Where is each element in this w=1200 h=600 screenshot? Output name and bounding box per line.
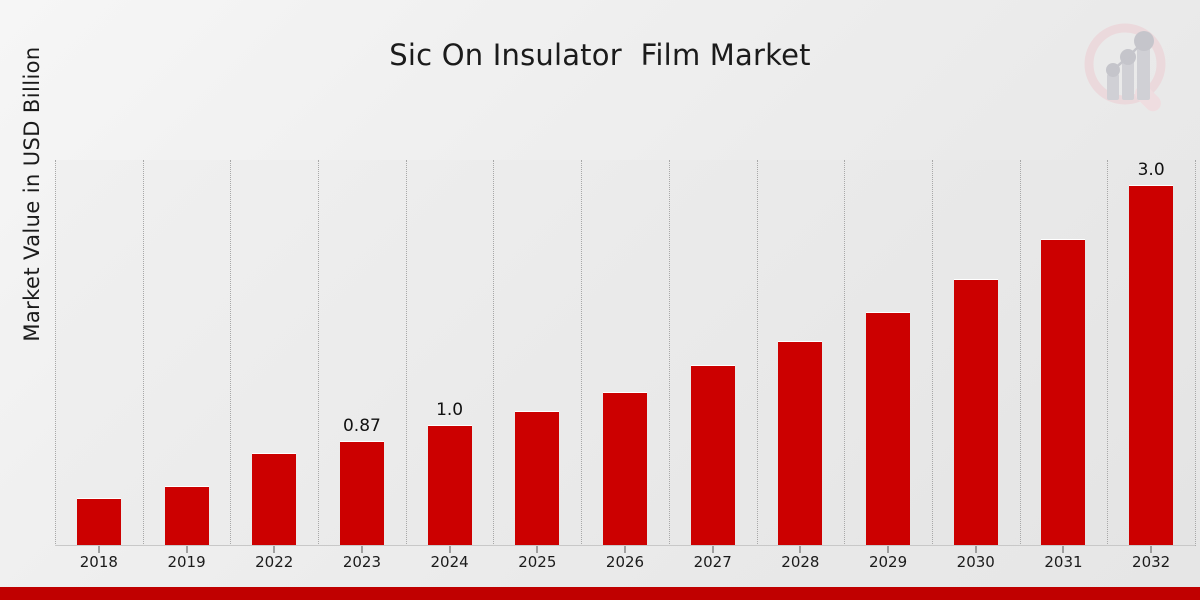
bar-group[interactable] [493, 160, 581, 546]
x-tick-2032 [1151, 546, 1152, 553]
bar-2023[interactable] [340, 441, 384, 546]
x-axis-labels: 2018201920222023202420252026202720282029… [55, 553, 1195, 579]
x-tick-2027 [712, 546, 713, 553]
y-axis-title: Market Value in USD Billion [20, 0, 44, 394]
bar-group[interactable]: 3.0 [1107, 160, 1195, 546]
bar-group[interactable] [757, 160, 845, 546]
bar-group[interactable] [1020, 160, 1108, 546]
footer-accent-strip [0, 587, 1200, 600]
gridline [1195, 160, 1197, 546]
x-axis-label-2025: 2025 [518, 553, 556, 571]
x-axis-label-2032: 2032 [1132, 553, 1170, 571]
bar-group[interactable] [230, 160, 318, 546]
bar-value-label-2023: 0.87 [343, 416, 381, 436]
bar-2031[interactable] [1041, 239, 1085, 546]
bar-2030[interactable] [954, 279, 998, 546]
x-axis-baseline [55, 545, 1195, 546]
bar-2027[interactable] [691, 365, 735, 546]
x-tick-2025 [537, 546, 538, 553]
bars-layer: 0.871.03.0 [55, 160, 1195, 546]
x-axis-label-2023: 2023 [343, 553, 381, 571]
x-axis-label-2027: 2027 [694, 553, 732, 571]
x-tick-2024 [449, 546, 450, 553]
x-tick-2018 [98, 546, 99, 553]
chart-canvas: Sic On Insulator Film Market Market Valu… [0, 0, 1200, 600]
bar-group[interactable] [143, 160, 231, 546]
bar-2024[interactable] [428, 425, 472, 546]
x-axis-label-2029: 2029 [869, 553, 907, 571]
bar-group[interactable] [581, 160, 669, 546]
bar-2032[interactable] [1129, 185, 1173, 546]
x-axis-label-2019: 2019 [167, 553, 205, 571]
x-tick-2023 [361, 546, 362, 553]
bar-group[interactable] [932, 160, 1020, 546]
x-tick-2026 [624, 546, 625, 553]
bar-group[interactable] [55, 160, 143, 546]
x-tick-2028 [800, 546, 801, 553]
x-tick-2031 [1063, 546, 1064, 553]
x-axis-label-2030: 2030 [957, 553, 995, 571]
x-axis-label-2018: 2018 [80, 553, 118, 571]
bar-value-label-2032: 3.0 [1138, 160, 1165, 180]
bar-group[interactable]: 0.87 [318, 160, 406, 546]
bar-2029[interactable] [866, 312, 910, 546]
x-tick-2029 [888, 546, 889, 553]
bar-2028[interactable] [778, 341, 822, 546]
bar-2022[interactable] [252, 453, 296, 546]
x-axis-label-2026: 2026 [606, 553, 644, 571]
bar-2019[interactable] [165, 486, 209, 546]
bar-group[interactable] [669, 160, 757, 546]
x-tick-2019 [186, 546, 187, 553]
x-axis-label-2031: 2031 [1044, 553, 1082, 571]
page-title: Sic On Insulator Film Market [0, 38, 1200, 72]
bar-group[interactable] [844, 160, 932, 546]
bar-2025[interactable] [515, 411, 559, 546]
x-axis-label-2028: 2028 [781, 553, 819, 571]
x-axis-label-2024: 2024 [431, 553, 469, 571]
bar-2018[interactable] [77, 498, 121, 546]
plot-area: 0.871.03.0 [55, 160, 1195, 546]
x-tick-2022 [274, 546, 275, 553]
bar-2026[interactable] [603, 392, 647, 546]
bar-group[interactable]: 1.0 [406, 160, 494, 546]
x-axis-label-2022: 2022 [255, 553, 293, 571]
x-tick-2030 [975, 546, 976, 553]
bar-value-label-2024: 1.0 [436, 400, 463, 420]
